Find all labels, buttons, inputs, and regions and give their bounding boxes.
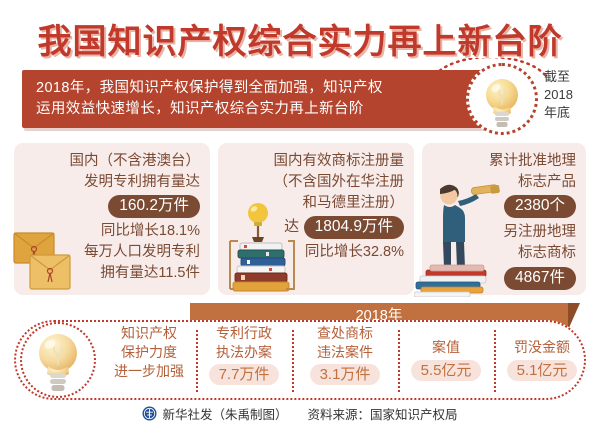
footer: 新华社发（朱禹制图） 资料来源：国家知识产权局 bbox=[0, 404, 600, 424]
deadline-label: 截至 2018 年底 bbox=[544, 68, 598, 122]
lightbulb-icon bbox=[35, 331, 81, 393]
bottom-cell-patent-admin-cases: 专利行政 执法办案 7.7万件 bbox=[198, 324, 290, 396]
card1-percapita-line-1: 每万人口发明专利 bbox=[70, 242, 201, 263]
bcell1-line-2: 执法办案 bbox=[198, 343, 290, 362]
card2-line-2: （不含国外在华注册 bbox=[274, 172, 405, 193]
summary-banner: 2018年，我国知识产权保护得到全面加强，知识产权 运用效益快速增长，知识产权综… bbox=[22, 70, 484, 128]
card-geographic-indication: 累计批准地理 标志产品 2380个 另注册地理 标志商标 4867件 bbox=[422, 143, 586, 295]
bcell4-value-pill: 5.1亿元 bbox=[507, 360, 578, 381]
envelope-icon bbox=[12, 229, 74, 293]
card1-text: 国内（不含港澳台） 发明专利拥有量达 160.2万件 同比增长18.1% 每万人… bbox=[70, 151, 201, 284]
card3-value-pill-2: 4867件 bbox=[504, 267, 576, 290]
card1-value-pill: 160.2万件 bbox=[108, 195, 200, 218]
lightbulb-icon bbox=[482, 75, 522, 129]
bottom-cell-case-value: 案值 5.5亿元 bbox=[400, 324, 492, 396]
card3-line-3: 另注册地理 bbox=[489, 222, 576, 243]
card3-line-4: 标志商标 bbox=[489, 243, 576, 264]
card3-line-2: 标志产品 bbox=[489, 172, 576, 193]
bcell2-line-2: 违法案件 bbox=[294, 343, 396, 362]
bottom-cell-fine-amount: 罚没金额 5.1亿元 bbox=[496, 324, 588, 396]
xinhua-logo-icon bbox=[142, 406, 157, 421]
card-valid-trademark-registrations: 国内有效商标注册量 （不含国外在华注册 和马德里注册） 达 1804.9万件 同… bbox=[218, 143, 414, 295]
bcell4-line-1: 罚没金额 bbox=[496, 338, 588, 357]
bottom-bulb-badge bbox=[20, 322, 96, 398]
card1-growth: 同比增长18.1% bbox=[70, 221, 201, 242]
footer-credit: 新华社发（朱禹制图） bbox=[162, 404, 287, 423]
bcell0-line-1: 知识产权 bbox=[104, 324, 194, 343]
card3-text: 累计批准地理 标志产品 2380个 另注册地理 标志商标 4867件 bbox=[489, 151, 576, 290]
card2-line-1: 国内有效商标注册量 bbox=[274, 151, 405, 172]
bcell3-line-1: 案值 bbox=[400, 338, 492, 357]
deadline-line-1: 截至 bbox=[544, 68, 598, 86]
bottom-cell-trademark-violation-cases: 查处商标 违法案件 3.1万件 bbox=[294, 324, 396, 396]
infographic-root: 我国知识产权综合实力再上新台阶 2018年，我国知识产权保护得到全面加强，知识产… bbox=[0, 0, 600, 428]
bcell1-line-1: 专利行政 bbox=[198, 324, 290, 343]
footer-source: 资料来源：国家知识产权局 bbox=[308, 404, 458, 423]
card3-line-1: 累计批准地理 bbox=[489, 151, 576, 172]
bcell3-value-pill: 5.5亿元 bbox=[411, 360, 482, 381]
bcell0-line-3: 进一步加强 bbox=[104, 362, 194, 381]
card2-value-pill: 1804.9万件 bbox=[304, 216, 404, 239]
card1-percapita-line-2: 拥有量达11.5件 bbox=[70, 263, 201, 284]
card1-line-1: 国内（不含港澳台） bbox=[70, 151, 201, 172]
banner-bulb-badge bbox=[466, 63, 538, 135]
bcell2-line-1: 查处商标 bbox=[294, 324, 396, 343]
deadline-line-3: 年底 bbox=[544, 104, 598, 122]
card3-value-pill-1: 2380个 bbox=[504, 195, 576, 218]
deadline-line-2: 2018 bbox=[544, 86, 598, 104]
books-lightbulb-icon bbox=[222, 201, 298, 293]
man-telescope-books-icon bbox=[414, 171, 500, 297]
bottom-cell-protection-strength: 知识产权 保护力度 进一步加强 bbox=[104, 324, 194, 396]
card-domestic-invention-patents: 国内（不含港澳台） 发明专利拥有量达 160.2万件 同比增长18.1% 每万人… bbox=[14, 143, 210, 295]
page-title: 我国知识产权综合实力再上新台阶 bbox=[0, 14, 600, 63]
bcell0-line-2: 保护力度 bbox=[104, 343, 194, 362]
bcell2-value-pill: 3.1万件 bbox=[310, 364, 381, 385]
summary-line-2: 运用效益快速增长，知识产权综合实力再上新台阶 bbox=[36, 99, 472, 120]
bcell1-value-pill: 7.7万件 bbox=[209, 364, 280, 385]
summary-banner-text: 2018年，我国知识产权保护得到全面加强，知识产权 运用效益快速增长，知识产权综… bbox=[36, 78, 472, 120]
summary-line-1: 2018年，我国知识产权保护得到全面加强，知识产权 bbox=[36, 78, 472, 99]
card1-line-2: 发明专利拥有量达 bbox=[70, 172, 201, 193]
